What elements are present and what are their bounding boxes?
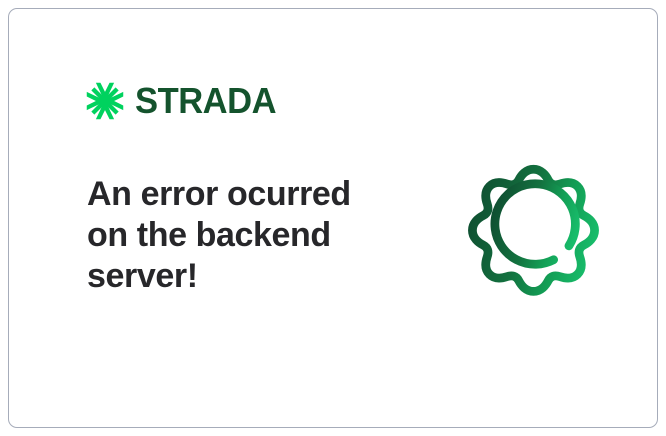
brand-wordmark: STRADA (135, 83, 276, 119)
error-card: STRADA An error ocurred on the backend s… (8, 8, 658, 428)
brand-logo: STRADA (86, 79, 282, 123)
error-message: An error ocurred on the backend server! (87, 174, 387, 297)
strada-asterisk-icon (86, 82, 124, 120)
page-root: STRADA An error ocurred on the backend s… (0, 0, 666, 436)
gear-illustration (446, 143, 621, 318)
gear-icon (446, 143, 621, 318)
